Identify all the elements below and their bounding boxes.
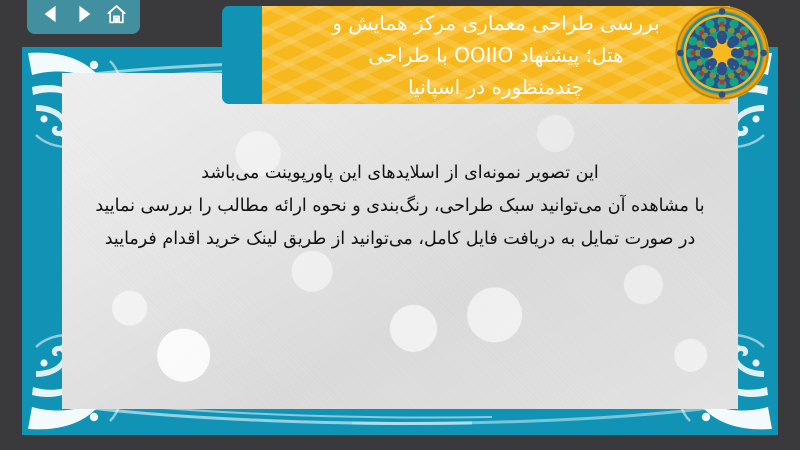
forward-icon[interactable] (71, 1, 97, 27)
body-line-1: این تصویر نمونه‌ای از اسلایدهای این پاور… (62, 157, 738, 190)
title-line-2: هتل؛ پیشنهاد OOIIO با طراحی (270, 39, 722, 71)
persian-medallion-ornament (672, 3, 772, 103)
title-banner: بررسی طراحی معماری مرکز همایش و هتل؛ پیش… (222, 6, 730, 104)
title-line-1: بررسی طراحی معماری مرکز همایش و (270, 7, 722, 39)
navigation-bar (27, 0, 140, 34)
back-icon[interactable] (38, 1, 64, 27)
slide-frame: این تصویر نمونه‌ای از اسلایدهای این پاور… (22, 47, 778, 435)
slide-viewer: این تصویر نمونه‌ای از اسلایدهای این پاور… (0, 0, 800, 450)
home-icon[interactable] (103, 1, 129, 27)
slide-content-area: این تصویر نمونه‌ای از اسلایدهای این پاور… (62, 73, 738, 409)
body-line-2: با مشاهده آن می‌توانید سبک طراحی، رنگ‌بن… (62, 190, 738, 223)
title-line-3: چندمنظوره در اسپانیا (270, 71, 722, 103)
body-line-3: در صورت تمایل به دریافت فایل کامل، می‌تو… (62, 223, 738, 256)
slide-body-text: این تصویر نمونه‌ای از اسلایدهای این پاور… (62, 157, 738, 256)
page-title: بررسی طراحی معماری مرکز همایش و هتل؛ پیش… (270, 6, 722, 104)
